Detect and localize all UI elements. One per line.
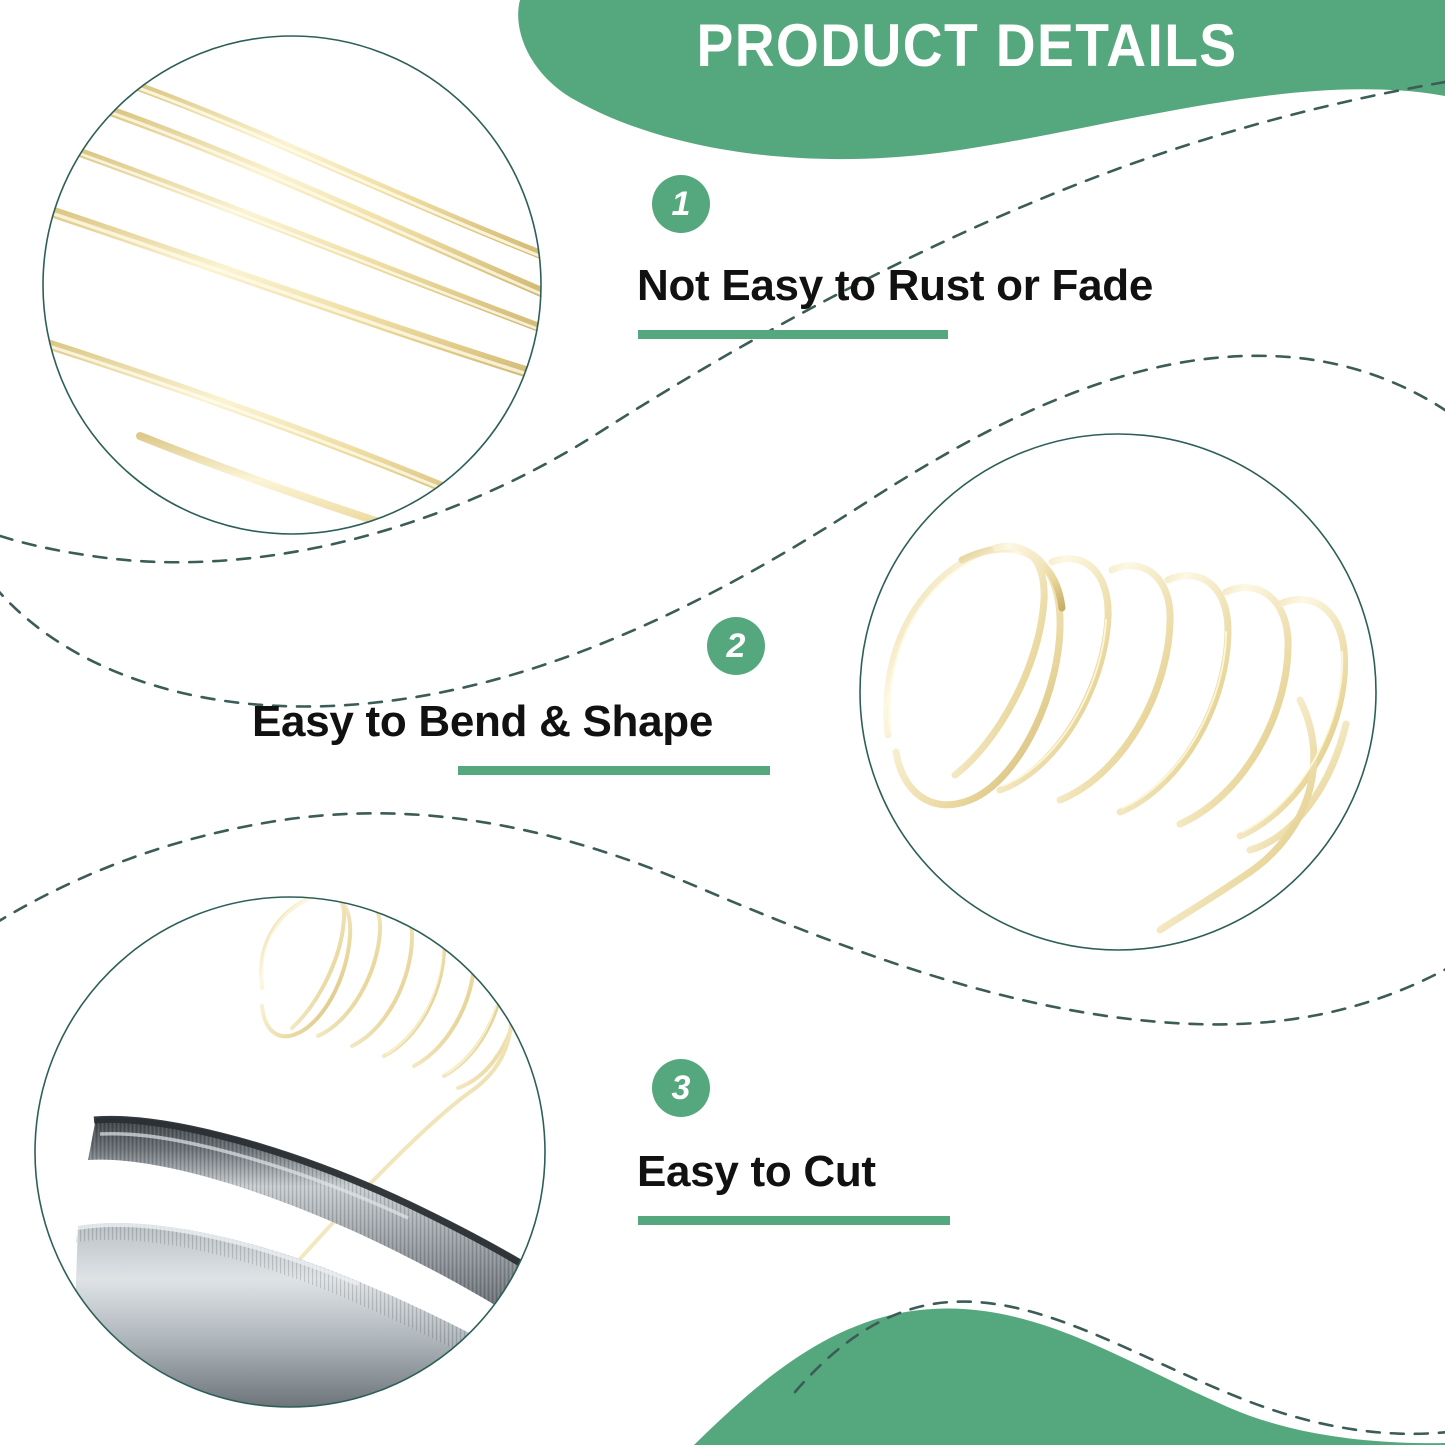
feature-1-underline [638,330,948,339]
feature-2-title: Easy to Bend & Shape [252,697,713,747]
feature-3-underline [638,1216,950,1225]
feature-1-number-badge: 1 [652,175,710,233]
feature-2-underline [458,766,770,775]
content-layer: PRODUCT DETAILS 1 Not Easy to Rust or Fa… [0,0,1445,1445]
infographic-canvas: PRODUCT DETAILS 1 Not Easy to Rust or Fa… [0,0,1445,1445]
page-title: PRODUCT DETAILS [645,6,1289,84]
feature-3-number-badge: 3 [652,1059,710,1117]
feature-1-title: Not Easy to Rust or Fade [637,261,1153,311]
feature-2-number-badge: 2 [707,617,765,675]
feature-3-title: Easy to Cut [637,1147,876,1197]
